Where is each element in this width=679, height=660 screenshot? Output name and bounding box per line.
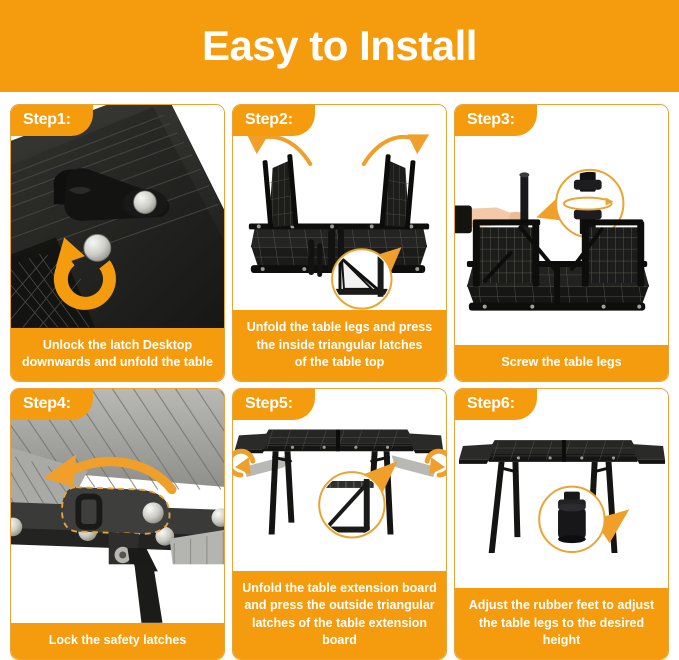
step-badge-5: Step5:	[233, 389, 315, 420]
step-badge-4: Step4:	[11, 389, 93, 420]
step-badge-3: Step3:	[455, 105, 537, 136]
step-caption-1: Unlock the latch Desktop downwards and u…	[11, 328, 224, 382]
step-caption-4: Lock the safety latches	[11, 623, 224, 659]
safety-latch-closeup-illustration	[11, 389, 224, 623]
page-title: Easy to Install	[202, 22, 477, 70]
step-card-5: Step5:	[232, 388, 447, 660]
latch-closeup-illustration	[11, 105, 224, 328]
step-badge-6: Step6:	[455, 389, 537, 420]
step-caption-6-line-3: height	[463, 632, 660, 649]
page-header-banner: Easy to Install	[0, 0, 679, 92]
step-caption-2-line-3: of the table top	[241, 354, 438, 371]
step-caption-6-line-1: Adjust the rubber feet to adjust	[463, 597, 660, 614]
step-caption-5-line-1: Unfold the table extension board	[241, 580, 438, 597]
step-caption-5: Unfold the table extension board and pre…	[233, 571, 446, 659]
step-caption-3: Screw the table legs	[455, 345, 668, 381]
step-caption-2: Unfold the table legs and press the insi…	[233, 310, 446, 381]
step-card-6: Step6:	[454, 388, 669, 660]
install-instructions-page: Easy to Install Step1:	[0, 0, 679, 660]
step-caption-5-line-3: latches of the table extension board	[241, 615, 438, 650]
step-card-3: Step3:	[454, 104, 669, 382]
step-caption-3-line-1: Screw the table legs	[463, 354, 660, 371]
step-card-4: Step4:	[10, 388, 225, 660]
step-badge-1: Step1:	[11, 105, 93, 136]
rubber-foot-body	[558, 507, 586, 539]
step-card-2: Step2:	[232, 104, 447, 382]
step-image-1	[11, 105, 224, 328]
step-image-4	[11, 389, 224, 623]
step-image-3	[455, 105, 668, 345]
step-badge-2: Step2:	[233, 105, 315, 136]
step-caption-6-line-2: the table legs to the desired	[463, 615, 660, 632]
step-caption-1-line-1: Unlock the latch Desktop	[19, 337, 216, 354]
step-caption-2-line-1: Unfold the table legs and press	[241, 319, 438, 336]
step-card-1: Step1:	[10, 104, 225, 382]
step-caption-4-line-1: Lock the safety latches	[19, 632, 216, 649]
screwing-table-leg-illustration	[455, 105, 668, 345]
step-caption-6: Adjust the rubber feet to adjust the tab…	[455, 588, 668, 659]
step-caption-5-line-2: and press the outside triangular	[241, 597, 438, 614]
steps-grid: Step1:	[0, 92, 679, 660]
step-caption-2-line-2: the inside triangular latches	[241, 337, 438, 354]
step-caption-1-line-2: downwards and unfold the table	[19, 354, 216, 371]
